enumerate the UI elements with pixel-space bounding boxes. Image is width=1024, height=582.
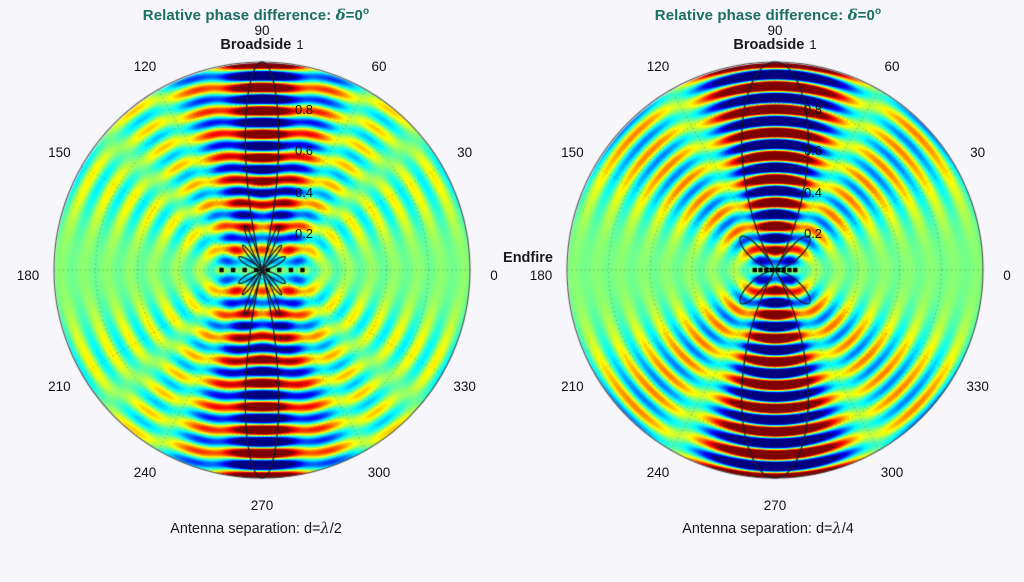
broadside-text: Broadside1: [220, 38, 303, 53]
broadside-label-block: 90Broadside1: [733, 24, 816, 52]
angle-tick-210: 210: [48, 380, 71, 394]
angle-tick-0: 0: [490, 269, 498, 283]
lambda-symbol: λ: [833, 521, 842, 537]
endfire-text: Endfire: [503, 250, 553, 266]
polar-plot-right: [512, 0, 1024, 582]
endfire-label-block: Endfire: [503, 250, 553, 266]
angle-tick-150: 150: [561, 146, 584, 160]
broadside-label-block: 90Broadside1: [220, 24, 303, 52]
angle-tick-60: 60: [371, 60, 386, 74]
radial-tick-0.8: 0.8: [804, 103, 822, 117]
angle-tick-330: 330: [453, 380, 476, 394]
angle-tick-120: 120: [647, 60, 670, 74]
angle-tick-270: 270: [764, 499, 787, 513]
angle-tick-300: 300: [368, 466, 391, 480]
angle-tick-90: 90: [220, 24, 303, 38]
angle-tick-30: 30: [970, 146, 985, 160]
angle-tick-240: 240: [647, 466, 670, 480]
angle-tick-210: 210: [561, 380, 584, 394]
angle-tick-150: 150: [48, 146, 71, 160]
panel-left-caption: Antenna separation: d=λ/2: [0, 521, 512, 537]
panel-left: Relative phase difference: δ=0o 60120150…: [0, 0, 512, 582]
panel-right-caption: Antenna separation: d=λ/4: [512, 521, 1024, 537]
angle-tick-0: 0: [1003, 269, 1011, 283]
angle-tick-330: 330: [966, 380, 989, 394]
radial-tick-0.8: 0.8: [295, 103, 313, 117]
angle-tick-180: 180: [17, 269, 40, 283]
angle-tick-240: 240: [134, 466, 157, 480]
angle-tick-60: 60: [884, 60, 899, 74]
polar-plot-left: [0, 0, 512, 582]
angle-tick-300: 300: [881, 466, 904, 480]
angle-tick-180: 180: [530, 269, 553, 283]
radial-tick-1: 1: [291, 37, 303, 52]
lambda-symbol: λ: [321, 521, 330, 537]
radial-tick-1: 1: [804, 37, 816, 52]
angle-tick-120: 120: [134, 60, 157, 74]
radial-tick-0.4: 0.4: [804, 186, 822, 200]
angle-tick-270: 270: [251, 499, 274, 513]
angle-tick-90: 90: [733, 24, 816, 38]
radial-tick-0.6: 0.6: [804, 144, 822, 158]
angle-tick-30: 30: [457, 146, 472, 160]
antenna-pattern-figure: Relative phase difference: δ=0o 60120150…: [0, 0, 1024, 582]
radial-tick-0.2: 0.2: [295, 228, 313, 242]
radial-tick-0.2: 0.2: [804, 228, 822, 242]
broadside-text: Broadside1: [733, 38, 816, 53]
radial-tick-0.6: 0.6: [295, 144, 313, 158]
panel-right: Relative phase difference: δ=0o 60120150…: [512, 0, 1024, 582]
radial-tick-0.4: 0.4: [295, 186, 313, 200]
